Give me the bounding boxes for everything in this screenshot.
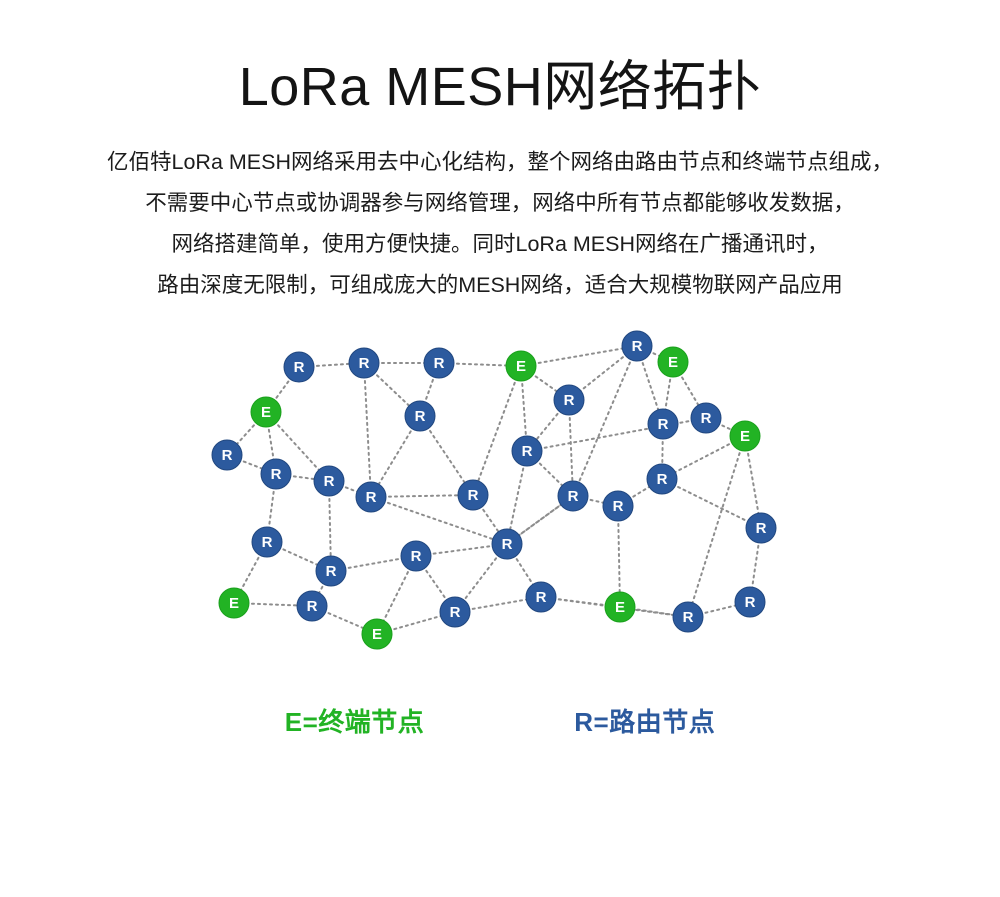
router-node-circle bbox=[401, 541, 431, 571]
terminal-node-circle bbox=[219, 588, 249, 618]
router-node-circle bbox=[526, 582, 556, 612]
router-node[interactable]: R bbox=[252, 527, 282, 557]
router-node[interactable]: R bbox=[212, 440, 242, 470]
router-node-circle bbox=[405, 401, 435, 431]
router-node[interactable]: R bbox=[622, 331, 652, 361]
mesh-edge bbox=[662, 479, 761, 528]
intro-line-1: 亿佰特LoRa MESH网络采用去中心化结构，整个网络由路由节点和终端节点组成， bbox=[30, 142, 970, 183]
mesh-edge bbox=[473, 366, 521, 495]
router-node-circle bbox=[603, 491, 633, 521]
router-node-circle bbox=[349, 348, 379, 378]
legend: E=终端节点 R=路由节点 bbox=[0, 702, 1000, 739]
router-node-circle bbox=[622, 331, 652, 361]
router-node[interactable]: R bbox=[673, 602, 703, 632]
page-title: LoRa MESH网络拓扑 bbox=[0, 0, 1000, 116]
mesh-edge bbox=[688, 436, 745, 617]
router-node[interactable]: R bbox=[558, 481, 588, 511]
mesh-topology-diagram: RRREREERRRRERRRRRRRRRRRRRRERERRERR bbox=[0, 324, 1000, 684]
terminal-node-circle bbox=[506, 351, 536, 381]
router-node[interactable]: R bbox=[526, 582, 556, 612]
router-node[interactable]: R bbox=[316, 556, 346, 586]
mesh-edge bbox=[364, 363, 371, 497]
router-node-circle bbox=[512, 436, 542, 466]
mesh-edge bbox=[573, 346, 637, 496]
mesh-edge bbox=[527, 418, 706, 451]
router-node[interactable]: R bbox=[691, 403, 721, 433]
router-node-circle bbox=[458, 480, 488, 510]
router-node[interactable]: R bbox=[284, 352, 314, 382]
router-node[interactable]: R bbox=[356, 482, 386, 512]
legend-router-node: R=路由节点 bbox=[574, 702, 715, 739]
router-node[interactable]: R bbox=[440, 597, 470, 627]
router-node-circle bbox=[252, 527, 282, 557]
terminal-node[interactable]: E bbox=[506, 351, 536, 381]
router-node-circle bbox=[284, 352, 314, 382]
router-node[interactable]: R bbox=[349, 348, 379, 378]
router-node[interactable]: R bbox=[314, 466, 344, 496]
router-node[interactable]: R bbox=[603, 491, 633, 521]
terminal-node-circle bbox=[251, 397, 281, 427]
router-node[interactable]: R bbox=[458, 480, 488, 510]
terminal-node-circle bbox=[362, 619, 392, 649]
terminal-node[interactable]: E bbox=[362, 619, 392, 649]
intro-line-3: 网络搭建简单，使用方便快捷。同时LoRa MESH网络在广播通讯时， bbox=[30, 224, 970, 265]
router-node-circle bbox=[212, 440, 242, 470]
router-node[interactable]: R bbox=[746, 513, 776, 543]
router-node-circle bbox=[356, 482, 386, 512]
router-node-circle bbox=[554, 385, 584, 415]
terminal-node[interactable]: E bbox=[219, 588, 249, 618]
mesh-edge bbox=[371, 497, 507, 544]
mesh-edge bbox=[521, 346, 637, 366]
router-node-circle bbox=[746, 513, 776, 543]
router-node[interactable]: R bbox=[405, 401, 435, 431]
terminal-node-circle bbox=[658, 347, 688, 377]
legend-terminal-node: E=终端节点 bbox=[285, 702, 425, 739]
intro-paragraph: 亿佰特LoRa MESH网络采用去中心化结构，整个网络由路由节点和终端节点组成，… bbox=[0, 116, 1000, 306]
router-node[interactable]: R bbox=[492, 529, 522, 559]
intro-line-4: 路由深度无限制，可组成庞大的MESH网络，适合大规模物联网产品应用 bbox=[30, 265, 970, 306]
terminal-node[interactable]: E bbox=[251, 397, 281, 427]
terminal-node[interactable]: E bbox=[658, 347, 688, 377]
router-node-circle bbox=[314, 466, 344, 496]
router-node-circle bbox=[691, 403, 721, 433]
router-node-circle bbox=[316, 556, 346, 586]
edge-layer bbox=[227, 346, 761, 634]
router-node-circle bbox=[648, 409, 678, 439]
router-node[interactable]: R bbox=[648, 409, 678, 439]
router-node-circle bbox=[492, 529, 522, 559]
router-node-circle bbox=[440, 597, 470, 627]
router-node-circle bbox=[424, 348, 454, 378]
router-node[interactable]: R bbox=[735, 587, 765, 617]
router-node-circle bbox=[297, 591, 327, 621]
router-node-circle bbox=[647, 464, 677, 494]
intro-line-2: 不需要中心节点或协调器参与网络管理，网络中所有节点都能够收发数据， bbox=[30, 183, 970, 224]
router-node-circle bbox=[673, 602, 703, 632]
router-node-circle bbox=[735, 587, 765, 617]
page-root: LoRa MESH网络拓扑 亿佰特LoRa MESH网络采用去中心化结构，整个网… bbox=[0, 0, 1000, 897]
terminal-node[interactable]: E bbox=[605, 592, 635, 622]
router-node[interactable]: R bbox=[647, 464, 677, 494]
terminal-node-circle bbox=[730, 421, 760, 451]
terminal-node-circle bbox=[605, 592, 635, 622]
mesh-network-graph: RRREREERRRRERRRRRRRRRRRRRRERERRERR bbox=[0, 324, 1000, 684]
router-node[interactable]: R bbox=[261, 459, 291, 489]
router-node[interactable]: R bbox=[297, 591, 327, 621]
node-layer: RRREREERRRRERRRRRRRRRRRRRRERERRERR bbox=[212, 331, 776, 649]
terminal-node[interactable]: E bbox=[730, 421, 760, 451]
router-node-circle bbox=[261, 459, 291, 489]
router-node[interactable]: R bbox=[554, 385, 584, 415]
router-node-circle bbox=[558, 481, 588, 511]
router-node[interactable]: R bbox=[512, 436, 542, 466]
router-node[interactable]: R bbox=[401, 541, 431, 571]
router-node[interactable]: R bbox=[424, 348, 454, 378]
